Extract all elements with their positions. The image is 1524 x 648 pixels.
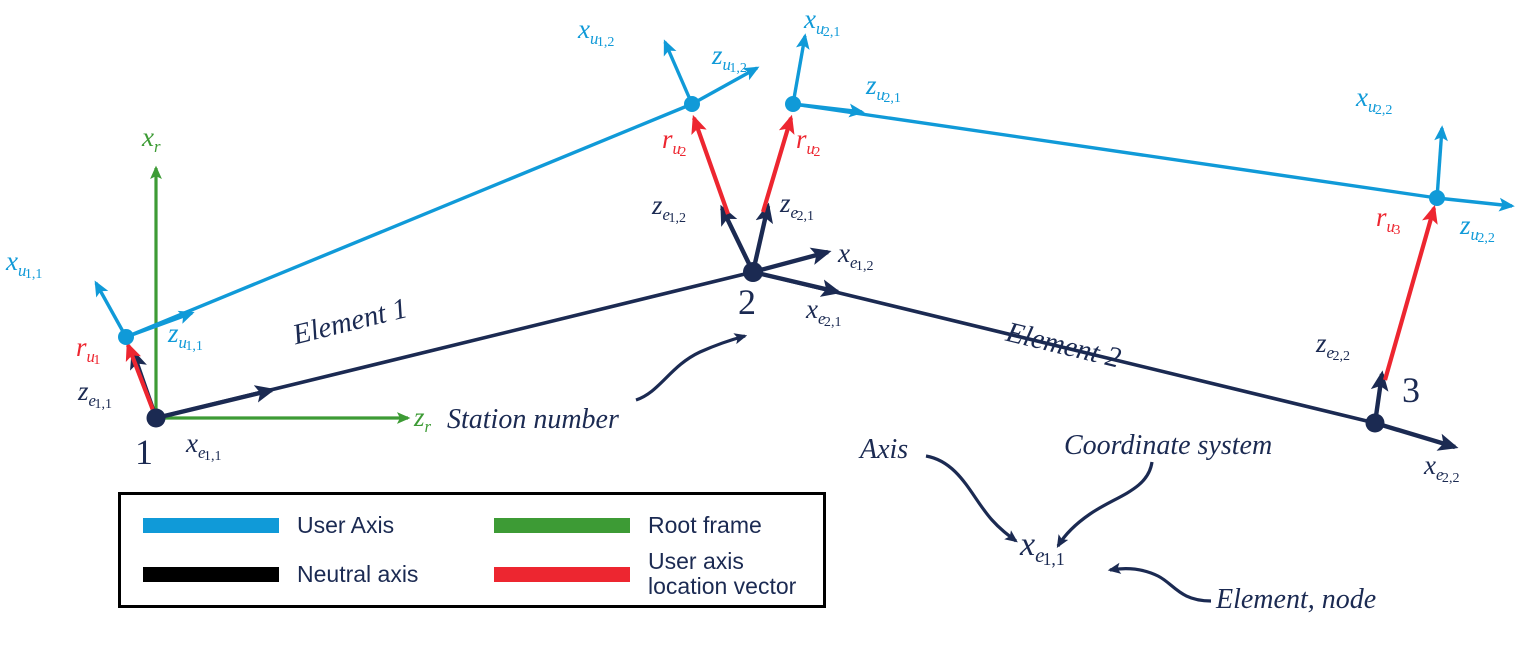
- station-1-user-origin-dot: [118, 329, 134, 345]
- element-node-callout-label: Element, node: [1216, 586, 1376, 614]
- z-e-2-1-axis-arrow: [753, 206, 768, 272]
- x-u-2-2-axis-arrow: [1437, 128, 1442, 198]
- z-u-2-1-label: zu2,1: [866, 72, 903, 99]
- r-u-2-left-location-vector-arrow: [694, 118, 728, 214]
- legend-box: User Axis Root frame Neutral axis User a…: [118, 492, 826, 608]
- legend-label-root-frame: Root frame: [648, 513, 762, 538]
- z-e-2-2-label: ze2,2: [1316, 330, 1352, 357]
- coordinate-system-callout-arrow: [1058, 462, 1152, 546]
- legend-item-root-frame: Root frame: [472, 513, 823, 538]
- x-e-1-2-axis-arrow: [753, 252, 828, 272]
- r-u-3-label: ru3: [1376, 204, 1402, 231]
- element-node-callout-arrow: [1110, 569, 1211, 601]
- x-e-2-1-label: xe2,1: [806, 296, 843, 323]
- legend-swatch-neutral-axis: [143, 567, 279, 582]
- x-u-1-1-label: xu1,1: [6, 248, 44, 275]
- station-3-node-dot: [1366, 414, 1385, 433]
- legend-swatch-user-axis: [143, 518, 279, 533]
- z-u-2-2-label: zu2,2: [1460, 212, 1497, 239]
- x-u-2-1-label: xu2,1: [804, 6, 842, 33]
- z-u-2-1-axis-arrow: [793, 104, 862, 112]
- user-axis-element-1-line: [126, 104, 692, 337]
- legend-item-neutral-axis: Neutral axis: [121, 562, 472, 587]
- z-e-2-1-label: ze2,1: [780, 190, 816, 217]
- x-e-1-1-axis-arrow: [156, 390, 272, 418]
- x-e-2-2-label: xe2,2: [1424, 452, 1461, 479]
- root-frame-group: [156, 168, 408, 418]
- legend-item-user-axis-location-vector: User axis location vector: [472, 549, 823, 599]
- neutral-axis-group: [156, 272, 1375, 423]
- station-2-number-label: 2: [738, 284, 756, 320]
- x-e-2-2-axis-arrow: [1375, 423, 1455, 447]
- r-u-1-label: ru1: [76, 334, 102, 361]
- z-u-1-2-label: zu1,2: [712, 42, 749, 69]
- z-e-1-2-axis-arrow: [722, 208, 753, 272]
- x-u-1-2-label: xu1,2: [578, 16, 616, 43]
- station-2-element-axes: [722, 206, 838, 292]
- r-u-1-location-vector-arrow: [128, 345, 156, 418]
- z-e-1-1-label: ze1,1: [78, 378, 114, 405]
- station-number-callout-arrow: [636, 336, 745, 400]
- z-u-1-1-label: zu1,1: [168, 320, 205, 347]
- legend-label-neutral-axis: Neutral axis: [297, 562, 418, 587]
- x-u-1-2-axis-arrow: [665, 42, 692, 104]
- coordinate-system-callout-label: Coordinate system: [1064, 432, 1272, 460]
- diagram-canvas: xr zr xu1,1 zu1,1 ru1 ze1,1 xe1,1 1 Elem…: [0, 0, 1524, 648]
- axis-callout-label: Axis: [860, 436, 908, 464]
- station-3-user-origin-dot: [1429, 190, 1445, 206]
- x-e-2-1-axis-arrow: [753, 272, 838, 292]
- station-1-node-dot: [147, 409, 166, 428]
- z-e-1-2-label: ze1,2: [652, 192, 688, 219]
- station-number-callout-label: Station number: [447, 406, 619, 434]
- legend-item-user-axis: User Axis: [121, 513, 472, 538]
- r-u-2-left-label: ru2: [662, 126, 688, 153]
- station-3-number-label: 3: [1402, 372, 1420, 408]
- legend-swatch-user-axis-location-vector: [494, 567, 630, 582]
- callout-key-symbol: xe1,1: [1020, 528, 1067, 562]
- user-axis-element-2-line: [793, 104, 1437, 198]
- r-u-2-right-label: ru2: [796, 126, 822, 153]
- station-1-number-label: 1: [135, 434, 153, 470]
- station-2-user-origin-dot-element-1: [684, 96, 700, 112]
- z-u-2-2-axis-arrow: [1437, 198, 1512, 206]
- legend-label-user-axis-location-vector: User axis location vector: [648, 549, 796, 599]
- x-u-1-1-axis-arrow: [96, 283, 126, 337]
- axis-callout-arrow: [926, 456, 1016, 541]
- station-3-user-frame: [1429, 128, 1512, 206]
- root-frame-x-label: xr: [142, 124, 161, 151]
- station-2-node-dot: [743, 262, 763, 282]
- x-e-1-2-label: xe1,2: [838, 240, 875, 267]
- legend-swatch-root-frame: [494, 518, 630, 533]
- x-u-2-1-axis-arrow: [793, 36, 805, 104]
- station-2-user-frame-element-2: [785, 36, 862, 112]
- user-axis-beam-group: [126, 104, 1437, 337]
- x-u-2-2-label: xu2,2: [1356, 84, 1394, 111]
- station-2-user-origin-dot-element-2: [785, 96, 801, 112]
- legend-label-user-axis: User Axis: [297, 513, 394, 538]
- x-e-1-1-label: xe1,1: [186, 430, 223, 457]
- root-frame-z-label: zr: [414, 404, 431, 431]
